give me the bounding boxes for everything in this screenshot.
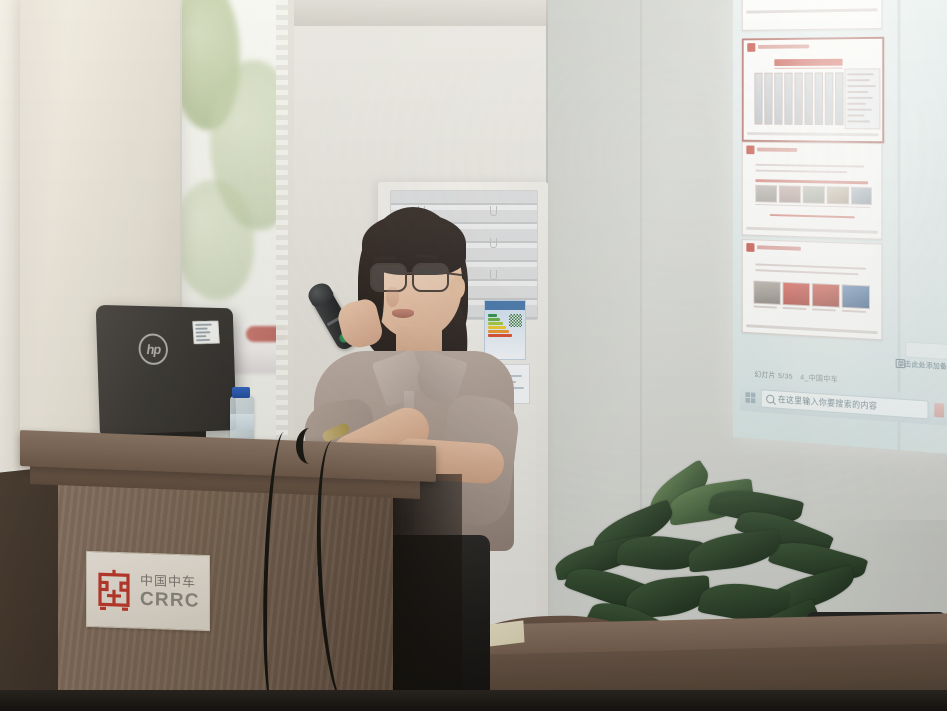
slide-counter: 幻灯片 5/35 [754, 368, 793, 381]
podium-shadow [392, 474, 462, 711]
search-icon [766, 394, 774, 403]
bottle-cap [232, 387, 250, 398]
hp-logo-icon: hp [138, 333, 168, 364]
eyeglasses [368, 263, 460, 289]
powerpoint-slide-pane[interactable] [737, 0, 894, 392]
window-frame-2 [288, 0, 294, 460]
nose [386, 287, 399, 307]
slide-thumbnail[interactable] [742, 0, 882, 31]
slide-thumbnail[interactable] [742, 239, 882, 340]
bottle-label [230, 414, 254, 430]
taskbar-app-icon[interactable] [934, 403, 944, 418]
windows-taskbar[interactable]: 在这里输入你要搜索的内容 [740, 382, 947, 426]
ceiling-beam [286, 0, 548, 26]
screen-divider [898, 0, 901, 450]
notes-placeholder: 单击此处添加备注 [898, 359, 947, 372]
projection-screen: 单击此处添加备注 幻灯片 5/35 4_中国中车 在这里输入你要搜索的内容 [733, 0, 947, 454]
theme-name: 4_中国中车 [800, 371, 838, 384]
hp-monitor: hp [96, 305, 237, 435]
search-input[interactable]: 在这里输入你要搜索的内容 [761, 389, 929, 419]
photo-scene: 单击此处添加备注 幻灯片 5/35 4_中国中车 在这里输入你要搜索的内容 [0, 0, 947, 711]
notes-toolbar [905, 342, 947, 360]
mouth [392, 309, 414, 318]
crrc-logo-plate: 中国中车 CRRC [86, 551, 210, 631]
windows-logo-icon[interactable] [745, 392, 755, 403]
crrc-english-text: CRRC [140, 589, 200, 610]
slide-thumbnail-selected[interactable] [742, 37, 884, 143]
crrc-chinese-text: 中国中车 [140, 573, 200, 588]
floor [0, 690, 947, 711]
podium-left-side [0, 466, 62, 711]
search-placeholder: 在这里输入你要搜索的内容 [778, 393, 877, 412]
microphone-head [305, 279, 336, 308]
wall-seam-2 [640, 0, 642, 520]
crrc-emblem-icon [95, 567, 133, 612]
slide-thumbnail[interactable] [742, 142, 882, 240]
asset-tag-sticker [192, 321, 219, 344]
notes-pane[interactable]: 单击此处添加备注 [896, 341, 947, 378]
cable-coil [296, 428, 323, 464]
